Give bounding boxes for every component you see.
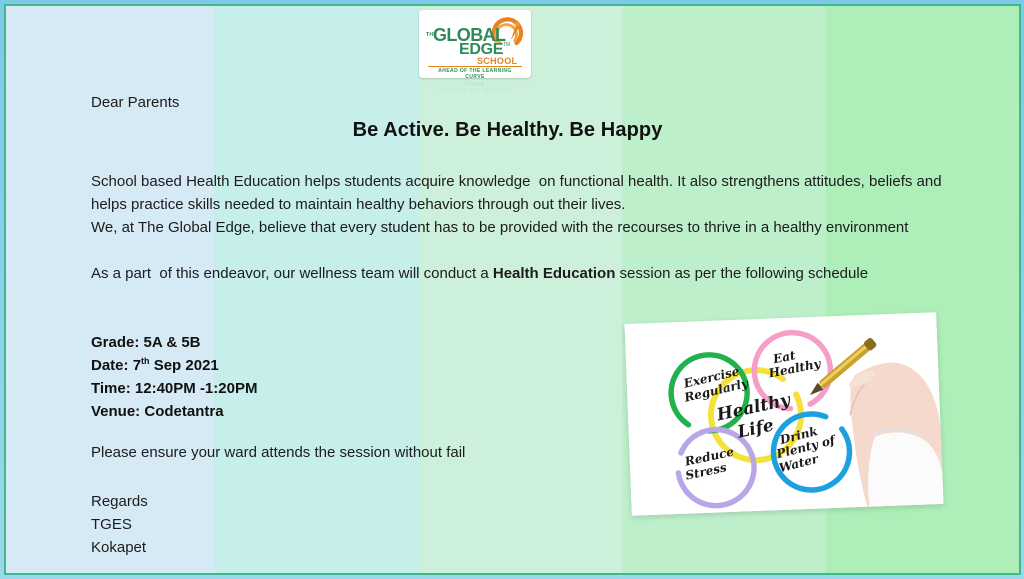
- venue-label: Venue:: [91, 403, 140, 420]
- closing-text: Please ensure your ward attends the sess…: [91, 444, 465, 461]
- session-details: Grade: 5A & 5B Date: 7th Sep 2021 Time: …: [91, 331, 257, 423]
- logo-reflection: AHEAD OF THE LEARNING CURVE: [419, 78, 531, 98]
- slide-frame: THE GLOBAL EDGE TM SCHOOL AHEAD OF THE L…: [4, 4, 1021, 575]
- signoff-campus: Kokapet: [91, 536, 148, 559]
- grade-label: Grade:: [91, 334, 139, 351]
- slide-canvas: THE GLOBAL EDGE TM SCHOOL AHEAD OF THE L…: [0, 0, 1024, 579]
- date-label: Date:: [91, 357, 129, 374]
- page-title: Be Active. Be Healthy. Be Happy: [6, 119, 1019, 142]
- healthy-life-illustration: Exercise Regularly Eat Healthy Drink Ple…: [624, 312, 943, 516]
- signoff-regards: Regards: [91, 490, 148, 513]
- logo-school-text: SCHOOL: [477, 57, 517, 66]
- date-month-year: Sep 2021: [154, 357, 219, 374]
- logo-reflection-tagline: AHEAD OF THE LEARNING CURVE: [428, 80, 522, 92]
- detail-venue: Venue: Codetantra: [91, 400, 257, 423]
- paragraph-1: School based Health Education helps stud…: [91, 170, 951, 216]
- paragraph-3-emphasis: Health Education: [493, 265, 616, 282]
- date-ordinal-suffix: th: [141, 356, 150, 366]
- school-logo: THE GLOBAL EDGE TM SCHOOL AHEAD OF THE L…: [419, 10, 531, 78]
- logo-tagline: AHEAD OF THE LEARNING CURVE: [428, 68, 522, 78]
- time-label: Time:: [91, 380, 131, 397]
- healthy-life-diagram: Exercise Regularly Eat Healthy Drink Ple…: [624, 312, 943, 516]
- detail-grade: Grade: 5A & 5B: [91, 331, 257, 354]
- paragraph-3-before: As a part of this endeavor, our wellness…: [91, 265, 493, 282]
- detail-time: Time: 12:40PM -1:20PM: [91, 377, 257, 400]
- date-day: 7: [133, 357, 141, 374]
- paragraph-3: As a part of this endeavor, our wellness…: [91, 262, 951, 285]
- detail-date: Date: 7th Sep 2021: [91, 354, 257, 377]
- greeting-text: Dear Parents: [91, 94, 179, 111]
- paragraph-3-after: session as per the following schedule: [615, 265, 868, 282]
- logo-trademark-text: TM: [503, 42, 510, 48]
- signoff-org: TGES: [91, 513, 148, 536]
- paragraph-2: We, at The Global Edge, believe that eve…: [91, 216, 951, 239]
- signoff-block: Regards TGES Kokapet: [91, 490, 148, 559]
- logo-divider: [428, 66, 522, 67]
- venue-value: Codetantra: [144, 403, 223, 420]
- time-value: 12:40PM -1:20PM: [135, 380, 258, 397]
- grade-value: 5A & 5B: [144, 334, 201, 351]
